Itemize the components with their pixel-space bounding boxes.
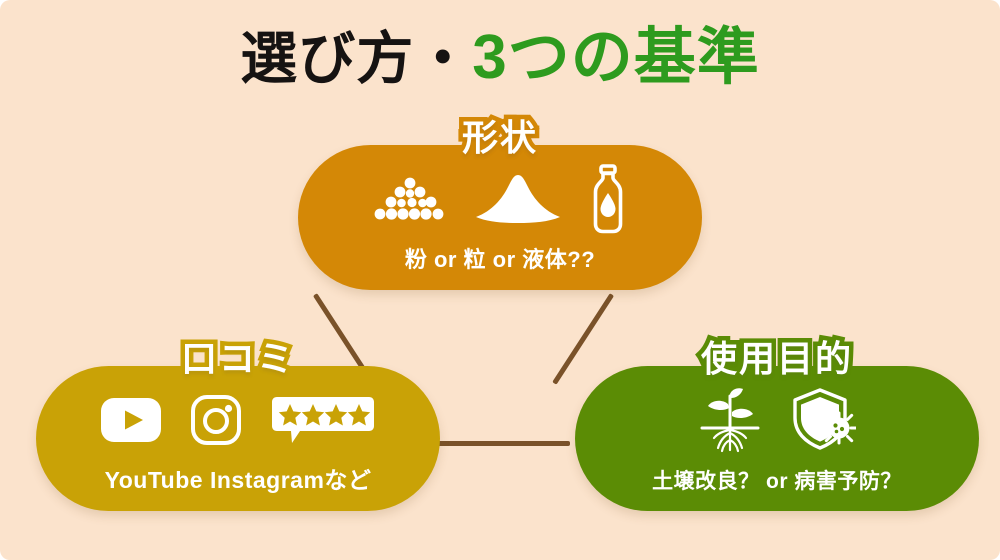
shield-virus-icon bbox=[790, 387, 856, 453]
page-title-black-part: 選び方・ bbox=[240, 27, 472, 91]
card-purpose-label: 使用目的 bbox=[575, 330, 979, 382]
card-shape[interactable]: 形状 bbox=[298, 145, 702, 290]
page-title-green-part: 3つの基準 bbox=[472, 23, 759, 92]
card-reviews-label: 口コミ bbox=[36, 330, 440, 382]
liquid-bottle-icon bbox=[588, 164, 628, 234]
card-shape-label: 形状 bbox=[298, 109, 702, 161]
star-review-bubble-icon bbox=[270, 395, 376, 445]
card-purpose-caption: 土壌改良？ or 病害予防？ bbox=[575, 465, 979, 495]
card-reviews[interactable]: 口コミ bbox=[36, 366, 440, 511]
connector-left-to-right bbox=[430, 441, 570, 446]
card-shape-icon-row bbox=[298, 161, 702, 237]
card-shape-caption: 粉 or 粒 or 液体?? bbox=[298, 242, 702, 274]
page-title: 選び方・3つの基準 bbox=[0, 22, 1000, 93]
granules-pile-icon bbox=[372, 173, 448, 225]
instagram-icon bbox=[190, 394, 242, 446]
youtube-icon bbox=[100, 397, 162, 443]
sprout-roots-icon bbox=[698, 386, 762, 454]
card-purpose[interactable]: 使用目的 bbox=[575, 366, 979, 511]
card-purpose-icon-row bbox=[575, 382, 979, 458]
card-reviews-icon-row bbox=[36, 382, 440, 458]
powder-mound-icon bbox=[474, 173, 562, 225]
infographic-canvas: 選び方・3つの基準 形状 bbox=[0, 0, 1000, 560]
card-reviews-caption: YouTube Instagramなど bbox=[36, 461, 440, 495]
